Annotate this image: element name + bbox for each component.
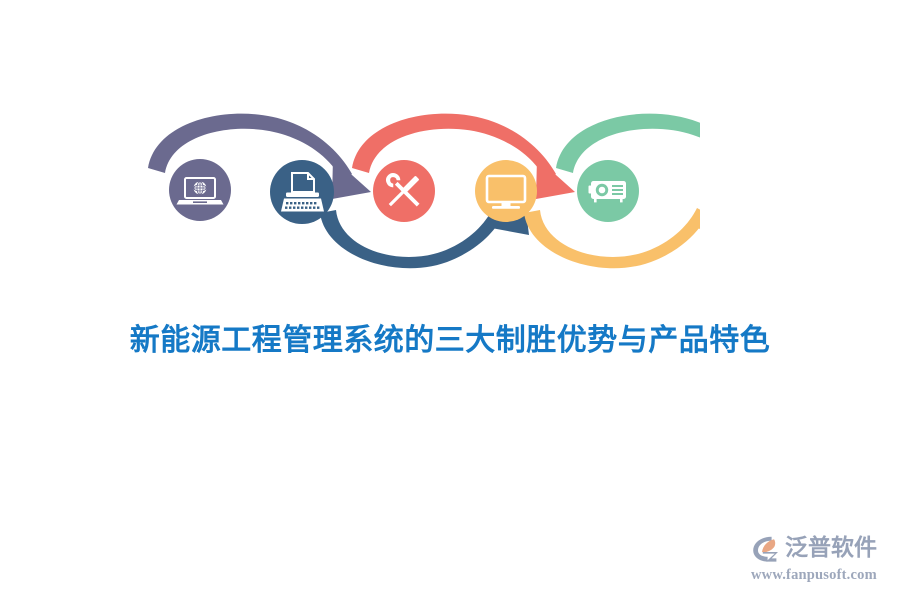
process-step-4 [475,160,537,222]
watermark-brand-name: 泛普软件 [785,537,877,560]
process-step-2 [270,160,334,224]
fanpu-logo-mark [750,532,782,564]
watermark-logo: 泛普软件 www.fanpusoft.com [750,530,882,588]
process-step-3 [373,160,435,222]
watermark-url: www.fanpusoft.com [751,567,882,584]
page-title: 新能源工程管理系统的三大制胜优势与产品特色 [0,315,900,359]
five-step-process-diagram [130,100,700,285]
process-step-5 [577,160,639,222]
process-step-1 [169,159,231,221]
page-root: 新能源工程管理系统的三大制胜优势与产品特色 泛普软件 www.fanpusoft… [0,0,900,600]
step-4-circle [475,160,537,222]
